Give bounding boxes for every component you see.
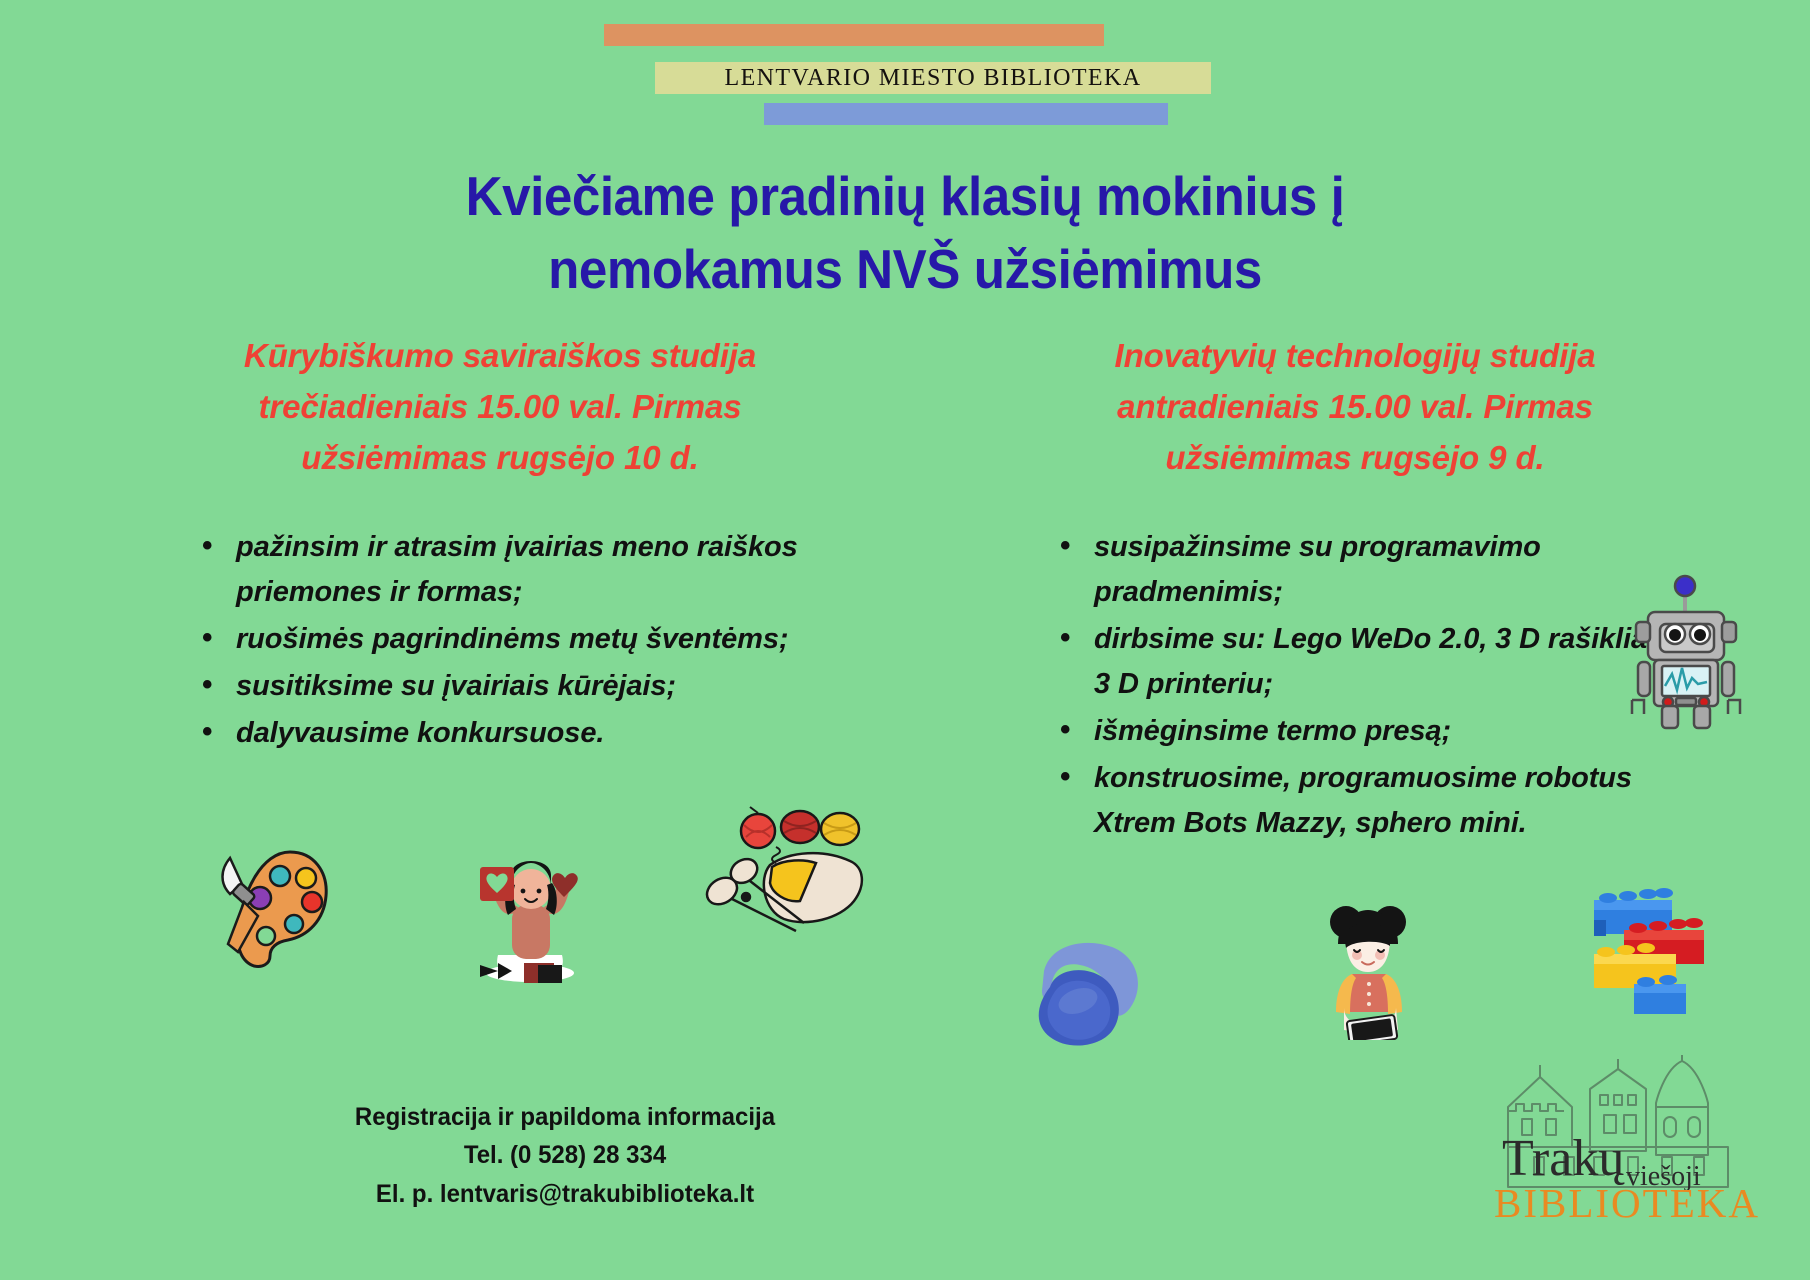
lego-bricks-icon — [1578, 880, 1728, 1020]
page-title-line-2: nemokamus NVŠ užsiėmimus — [63, 233, 1746, 306]
poster-canvas: LENTVARIO MIESTO BIBLIOTEKA Kviečiame pr… — [0, 0, 1810, 1280]
list-item: dalyvausime konkursuose. — [190, 711, 820, 756]
contact-info: Registracija ir papildoma informacija Te… — [23, 1098, 1108, 1213]
list-item: susitiksime su įvairiais kūrėjais; — [190, 664, 820, 709]
column-technology-studio: Inovatyvių technologijų studija antradie… — [1030, 330, 1680, 848]
list-item: dirbsime su: Lego WeDo 2.0, 3 D rašiklia… — [1048, 617, 1680, 707]
sewing-craft-icon — [700, 805, 870, 965]
left-heading-line-2: trečiadieniais 15.00 val. Pirmas — [180, 381, 820, 432]
page-title: Kviečiame pradinių klasių mokinius į nem… — [63, 160, 1746, 306]
banner-bar-orange — [604, 24, 1104, 46]
right-bullet-list: susipažinsime su programavimo pradmenimi… — [1048, 525, 1680, 846]
left-column-heading: Kūrybiškumo saviraiškos studija trečiadi… — [180, 330, 820, 483]
contact-line-phone: Tel. (0 528) 28 334 — [23, 1136, 1108, 1174]
banner-bar-blue — [764, 103, 1168, 125]
header-banner: LENTVARIO MIESTO BIBLIOTEKA — [0, 0, 1810, 130]
logo-word-trakai: Trakų — [1502, 1133, 1624, 1185]
left-heading-line-1: Kūrybiškumo saviraiškos studija — [180, 330, 820, 381]
vr-headset-icon — [1020, 935, 1160, 1055]
contact-line-registration: Registracija ir papildoma informacija — [23, 1098, 1108, 1136]
girl-crafts-icon — [468, 845, 598, 985]
list-item: ruošimės pagrindinėms metų šventėms; — [190, 617, 820, 662]
library-name: LENTVARIO MIESTO BIBLIOTEKA — [655, 62, 1211, 94]
right-heading-line-3: užsiėmimas rugsėjo 9 d. — [1030, 432, 1680, 483]
trakai-library-logo: Trakų viešoji BIBLIOTEKA — [1478, 1055, 1768, 1235]
logo-word-biblioteka: BIBLIOTEKA — [1494, 1183, 1760, 1224]
list-item: susipažinsime su programavimo pradmenimi… — [1048, 525, 1680, 615]
paint-palette-icon — [212, 840, 332, 970]
left-heading-line-3: užsiėmimas rugsėjo 10 d. — [180, 432, 820, 483]
list-item: pažinsim ir atrasim įvairias meno raiško… — [190, 525, 820, 615]
toy-robot-icon — [1624, 562, 1774, 730]
right-column-heading: Inovatyvių technologijų studija antradie… — [1030, 330, 1680, 483]
column-creativity-studio: Kūrybiškumo saviraiškos studija trečiadi… — [180, 330, 820, 758]
girl-tablet-icon — [1300, 900, 1440, 1040]
contact-line-email: El. p. lentvaris@trakubiblioteka.lt — [23, 1175, 1108, 1213]
right-heading-line-1: Inovatyvių technologijų studija — [1030, 330, 1680, 381]
list-item: konstruosime, programuosime robotus Xtre… — [1048, 756, 1680, 846]
right-heading-line-2: antradieniais 15.00 val. Pirmas — [1030, 381, 1680, 432]
left-bullet-list: pažinsim ir atrasim įvairias meno raiško… — [190, 525, 820, 756]
list-item: išmėginsime termo presą; — [1048, 709, 1680, 754]
page-title-line-1: Kviečiame pradinių klasių mokinius į — [63, 160, 1746, 233]
